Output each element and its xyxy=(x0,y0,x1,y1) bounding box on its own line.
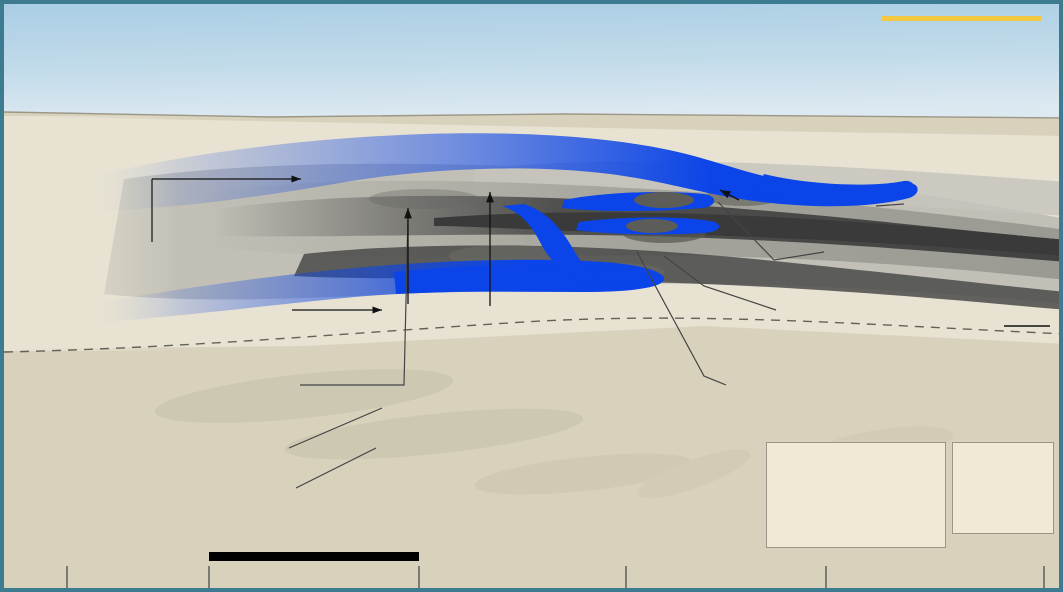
brand-logo xyxy=(881,15,1041,21)
legend-swatches xyxy=(952,442,1054,534)
brand-underline xyxy=(881,16,1041,21)
cross-section-figure xyxy=(0,0,1063,592)
sky-band xyxy=(4,4,1063,122)
west-fade-overlay xyxy=(4,116,179,351)
legend-symbols xyxy=(766,442,946,548)
